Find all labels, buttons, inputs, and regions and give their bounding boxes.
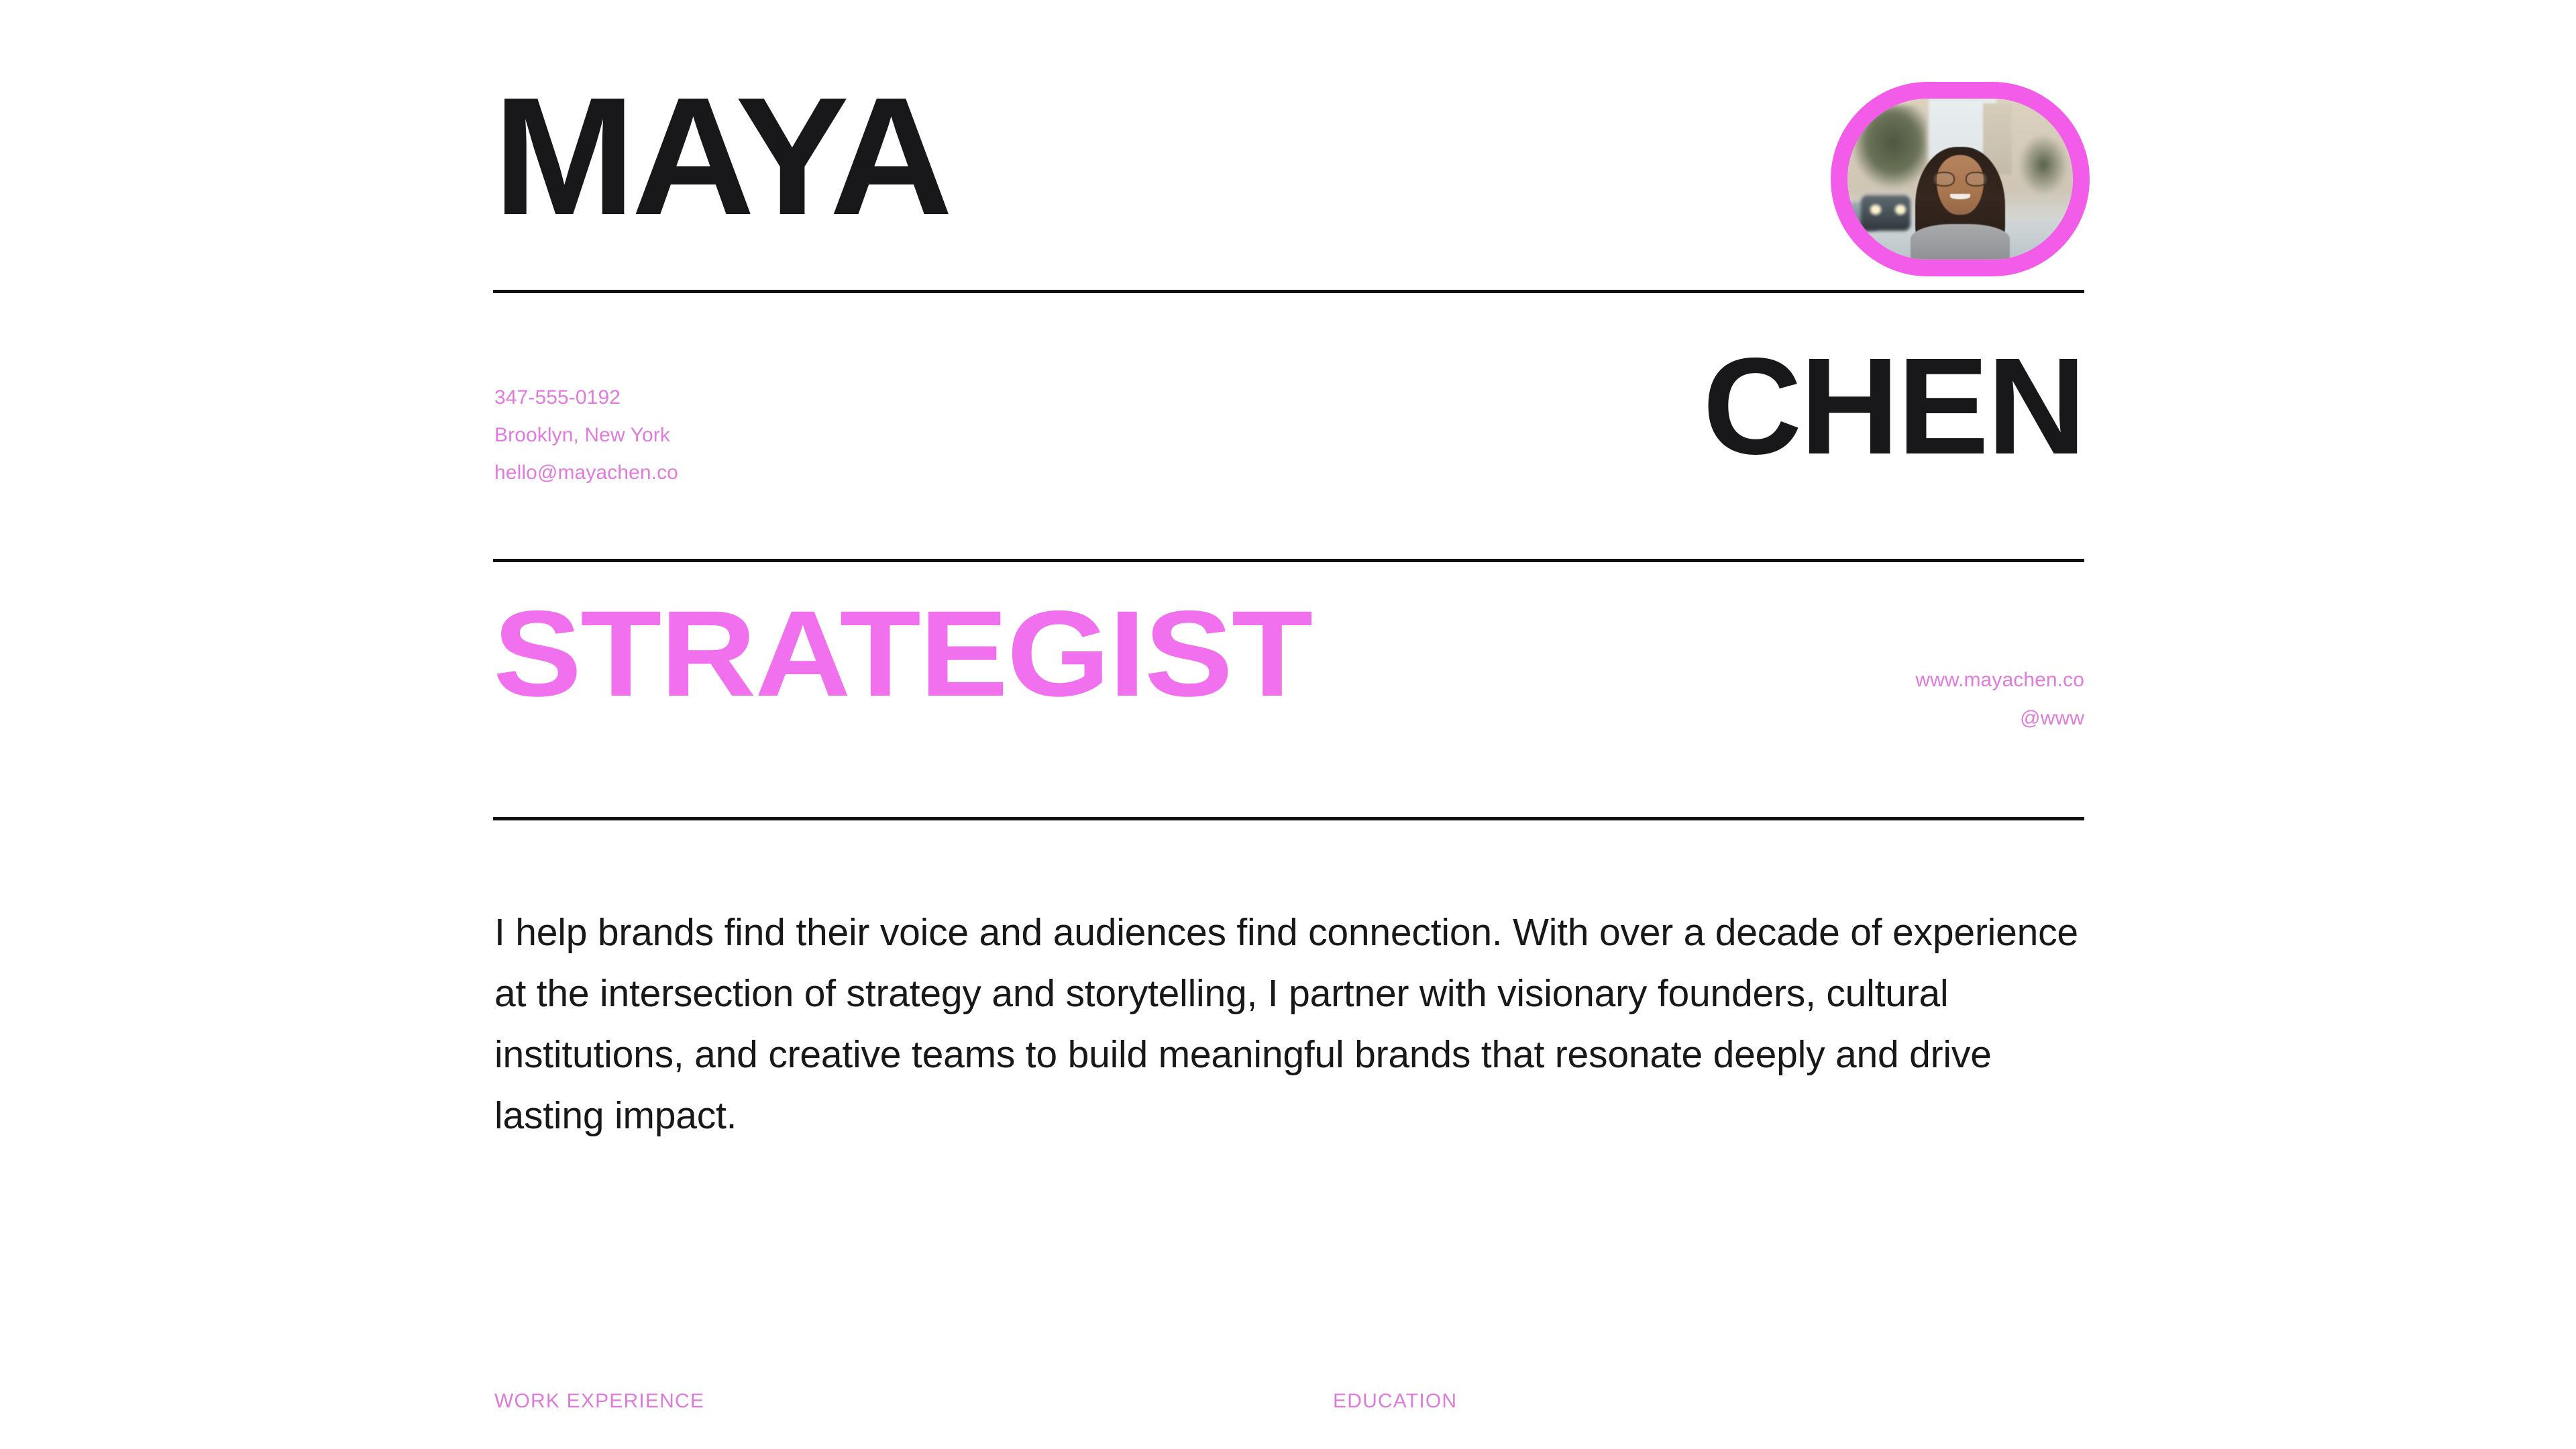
section-label-work-experience: WORK EXPERIENCE xyxy=(494,1390,704,1413)
avatar-frame xyxy=(1847,99,2073,260)
contact-block: 347-555-0192 Brooklyn, New York hello@ma… xyxy=(494,379,678,492)
divider-middle xyxy=(493,559,2084,562)
photo-tree-left xyxy=(1852,105,1927,189)
photo-subject-smile xyxy=(1950,194,1970,199)
divider-top xyxy=(493,290,2084,293)
page-title-first-name: MAYA xyxy=(493,79,949,233)
contact-phone[interactable]: 347-555-0192 xyxy=(494,379,678,417)
portrait-photo-icon xyxy=(1847,99,2073,260)
link-website[interactable]: www.mayachen.co xyxy=(1915,661,2084,699)
photo-tree-right xyxy=(2019,134,2068,195)
page-title-last-name: CHEN xyxy=(1703,343,2084,470)
contact-email[interactable]: hello@mayachen.co xyxy=(494,454,678,492)
glasses-icon xyxy=(1933,172,1988,186)
section-label-education: EDUCATION xyxy=(1333,1390,1457,1413)
resume-page: MAYA 347-555-0192 xyxy=(0,0,2576,1449)
divider-bottom xyxy=(493,817,2084,820)
photo-subject-shirt xyxy=(1911,224,2010,260)
photo-headlight-right xyxy=(1895,205,1907,214)
avatar[interactable] xyxy=(1831,82,2090,276)
bio-paragraph: I help brands find their voice and audie… xyxy=(494,902,2094,1146)
link-handle[interactable]: @www xyxy=(2020,699,2084,737)
role-title: STRATEGIST xyxy=(493,596,1311,712)
photo-headlight-left xyxy=(1870,205,1882,214)
links-block: www.mayachen.co @www xyxy=(1915,661,2084,737)
contact-location: Brooklyn, New York xyxy=(494,417,678,454)
